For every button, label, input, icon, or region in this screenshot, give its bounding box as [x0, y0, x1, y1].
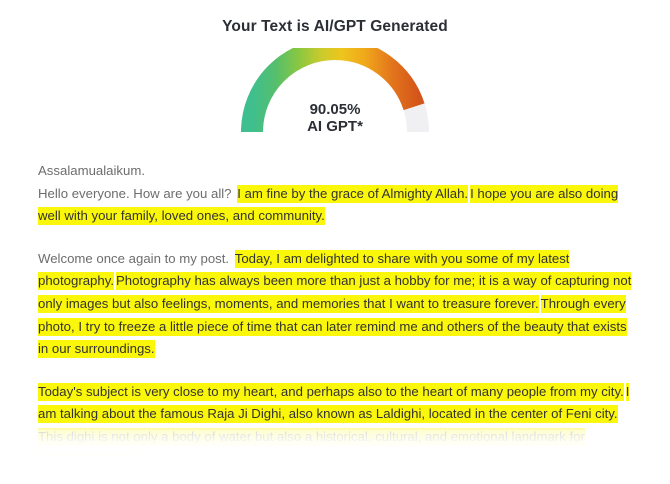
analyzed-text-scroll-area[interactable]: Assalamualaikum.Hello everyone. How are …: [0, 160, 670, 484]
plain-sentence: Assalamualaikum.: [38, 163, 145, 178]
ai-probability-gauge: 90.05% AI GPT*: [240, 48, 430, 140]
gauge-svg: [240, 48, 430, 140]
text-paragraph: Today's subject is very close to my hear…: [38, 381, 636, 471]
highlighted-sentence: I am fine by the grace of Almighty Allah…: [237, 185, 468, 203]
highlighted-sentence: This dighi is not only a body of water b…: [38, 428, 585, 469]
ai-detection-result-panel: Your Text is AI/GPT Generated: [0, 0, 670, 484]
text-paragraph: Welcome once again to my post. Today, I …: [38, 248, 636, 361]
highlighted-sentence: Today's subject is very close to my hear…: [38, 383, 624, 401]
plain-sentence: Hello everyone. How are you all?: [38, 186, 235, 201]
page-title: Your Text is AI/GPT Generated: [0, 0, 670, 36]
analyzed-text-body: Assalamualaikum.Hello everyone. How are …: [0, 160, 670, 484]
text-paragraph: Assalamualaikum.Hello everyone. How are …: [38, 160, 636, 228]
gauge-value-arc: [252, 49, 418, 132]
plain-sentence: Welcome once again to my post.: [38, 251, 233, 266]
sentence-gap: [618, 403, 620, 426]
